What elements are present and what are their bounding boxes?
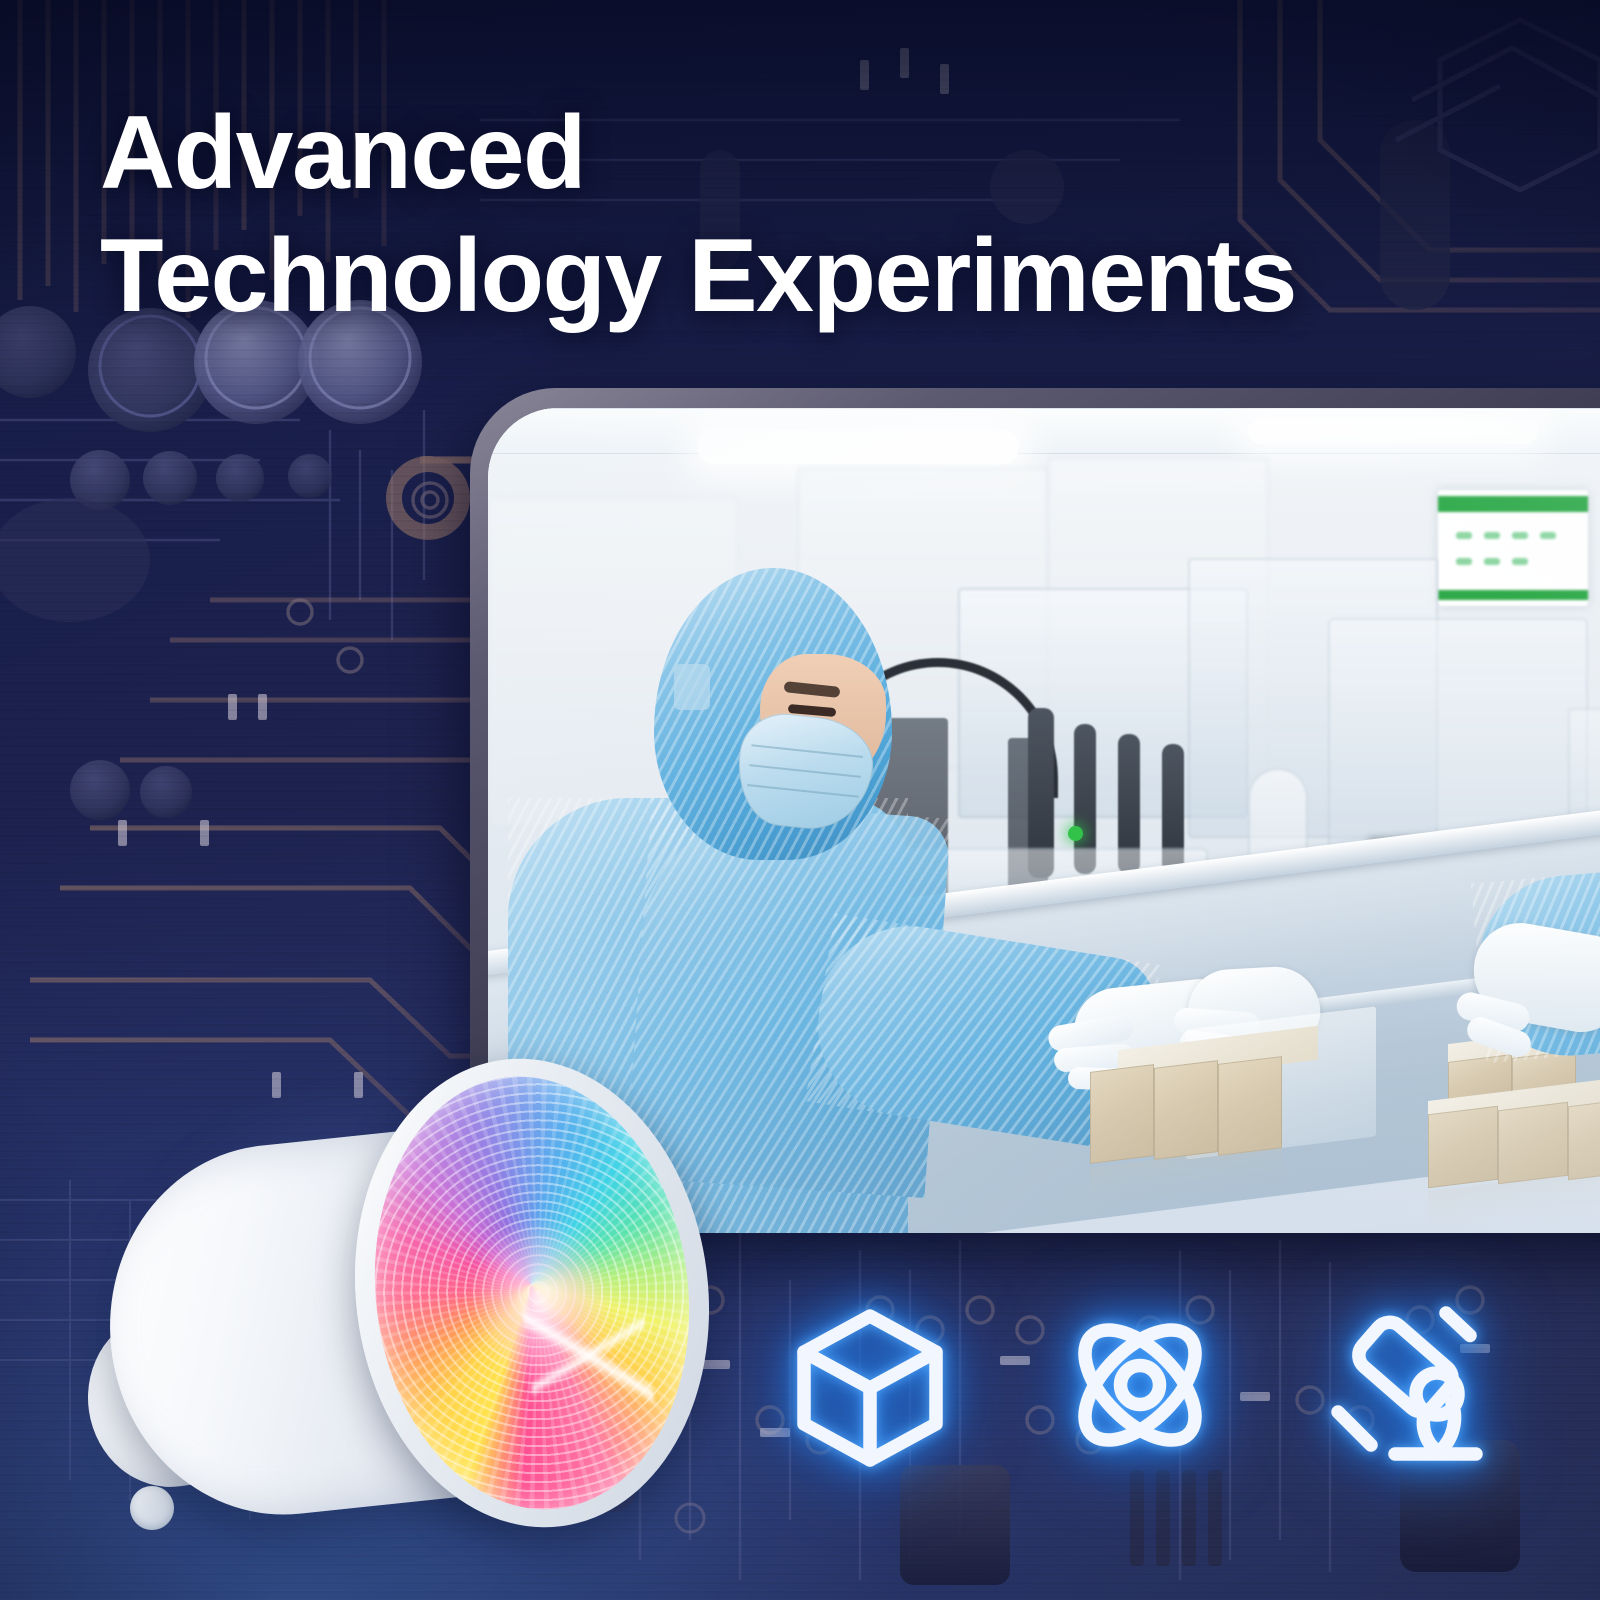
poster-canvas: Advanced Technology Experiments — [0, 0, 1600, 1600]
cube-icon[interactable] — [780, 1295, 960, 1475]
status-indicator-led — [1068, 826, 1083, 841]
box-stack-left — [1078, 1034, 1378, 1184]
ceiling-light-right — [1248, 418, 1538, 444]
microscope-icon[interactable] — [1320, 1295, 1500, 1475]
bulb-pin-2 — [130, 1486, 174, 1530]
worker-left-hood-patch — [674, 664, 710, 710]
bulb-rgb-lens — [351, 1059, 714, 1528]
wall-sign — [1438, 490, 1588, 606]
tech-icon-row — [780, 1285, 1500, 1485]
worker-right — [1568, 468, 1600, 1233]
ceiling-light-left — [698, 430, 1018, 464]
page-title: Advanced Technology Experiments — [100, 92, 1520, 337]
atom-icon[interactable] — [1050, 1295, 1230, 1475]
product-bulb — [88, 1020, 688, 1600]
